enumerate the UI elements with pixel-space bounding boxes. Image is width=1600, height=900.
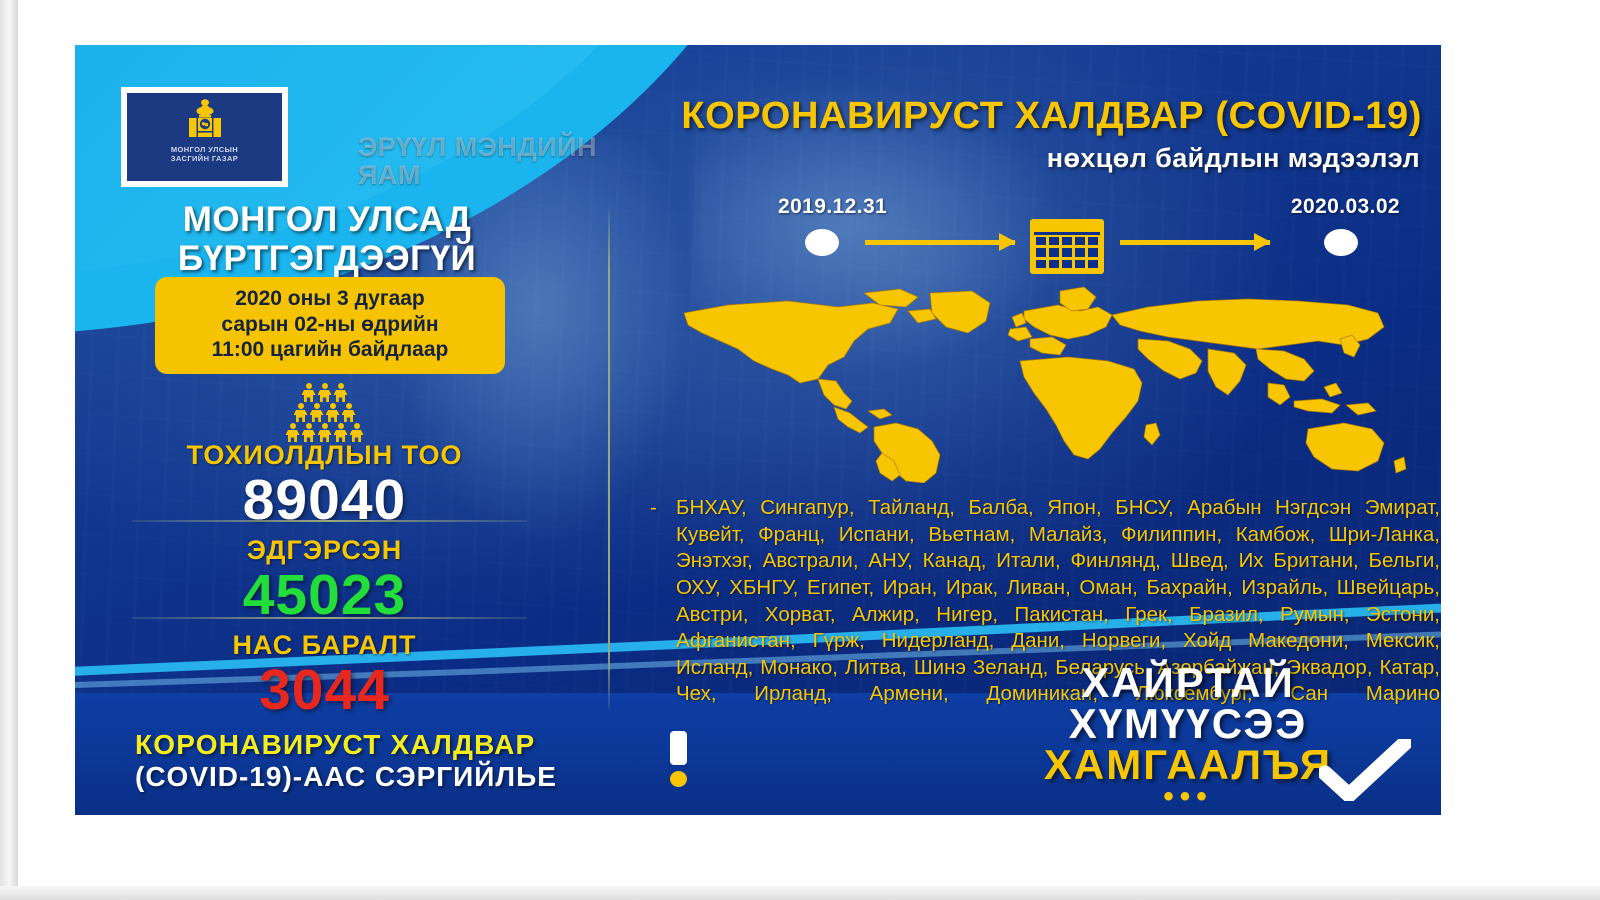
calendar-icon xyxy=(1030,219,1104,274)
stat-confirmed: ТОХИОЛДЛЫН ТОО 89040 xyxy=(97,440,552,531)
date-badge-line3: 11:00 цагийн байдлаар xyxy=(165,337,495,363)
stat-recovered-label: ЭДГЭРСЭН xyxy=(97,535,552,566)
left-summary-column: МОНГОЛ УЛСЫН ЗАСГИЙН ГАЗАР МОНГОЛ УЛСАД … xyxy=(97,55,552,705)
headline-line1: МОНГОЛ УЛСАД xyxy=(107,200,547,239)
headline: МОНГОЛ УЛСАД БҮРТГЭГДЭЭГҮЙ xyxy=(107,200,547,278)
date-badge: 2020 оны 3 дугаар сарын 02-ны өдрийн 11:… xyxy=(155,277,505,374)
stat-deaths: НАС БАРАЛТ 3044 xyxy=(97,630,552,721)
slogan-line1: ХАЙРТАЙ xyxy=(973,662,1403,703)
exclamation-icon xyxy=(670,731,687,787)
page-subtitle: нөхцөл байдлын мэдээлэл xyxy=(1047,143,1420,174)
list-bullet: - xyxy=(650,495,657,522)
logo-text-line1: МОНГОЛ УЛСЫН xyxy=(171,145,238,154)
people-pictogram-icon xyxy=(97,383,552,442)
date-badge-line1: 2020 оны 3 дугаар xyxy=(165,286,495,312)
page-edge-bottom xyxy=(0,886,1600,900)
timeline-end-dot xyxy=(1324,229,1358,256)
government-logo: МОНГОЛ УЛСЫН ЗАСГИЙН ГАЗАР xyxy=(121,87,288,187)
soyombo-emblem-icon xyxy=(177,98,233,142)
page-title: КОРОНАВИРУСТ ХАЛДВАР (COVID-19) xyxy=(681,95,1422,138)
logo-text: МОНГОЛ УЛСЫН ЗАСГИЙН ГАЗАР xyxy=(171,145,238,164)
checkmark-icon xyxy=(1319,739,1411,801)
timeline-end-date: 2020.03.02 xyxy=(1291,195,1400,219)
right-content-column: КОРОНАВИРУСТ ХАЛДВАР (COVID-19) нөхцөл б… xyxy=(630,55,1430,715)
stat-deaths-value: 3044 xyxy=(97,661,552,721)
timeline-start-date: 2019.12.31 xyxy=(778,195,887,219)
prevention-banner-line1: КОРОНАВИРУСТ ХАЛДВАР xyxy=(135,729,535,761)
timeline: 2019.12.31 2020.03.02 xyxy=(700,195,1420,275)
prevention-banner-line2: (COVID-19)-ААС СЭРГИЙЛЬЕ xyxy=(135,761,557,793)
timeline-arrow-2-icon xyxy=(1120,240,1270,245)
headline-line2: БҮРТГЭГДЭЭГҮЙ xyxy=(107,239,547,278)
page-edge-left xyxy=(0,0,18,900)
stat-recovered: ЭДГЭРСЭН 45023 xyxy=(97,535,552,626)
slogan-line2: ХҮМҮҮСЭЭ xyxy=(973,703,1403,744)
covid-status-poster: ЭРҮҮЛ МЭНДИЙН ЯАМ xyxy=(75,45,1441,815)
world-map xyxy=(668,283,1408,483)
stat-confirmed-label: ТОХИОЛДЛЫН ТОО xyxy=(97,440,552,471)
column-divider xyxy=(608,210,610,710)
stat-deaths-label: НАС БАРАЛТ xyxy=(97,630,552,661)
logo-text-line2: ЗАСГИЙН ГАЗАР xyxy=(171,154,238,163)
timeline-start-dot xyxy=(805,229,839,256)
date-badge-line2: сарын 02-ны өдрийн xyxy=(165,312,495,338)
page-canvas: ЭРҮҮЛ МЭНДИЙН ЯАМ xyxy=(0,0,1600,900)
stat-divider-2 xyxy=(132,617,527,619)
timeline-arrow-1-icon xyxy=(865,240,1015,245)
prevention-banner: КОРОНАВИРУСТ ХАЛДВАР (COVID-19)-ААС СЭРГ… xyxy=(135,729,695,793)
protect-slogan: ХАЙРТАЙ ХҮМҮҮСЭЭ ХАМГААЛЪЯ ••• xyxy=(973,662,1403,807)
stat-divider-1 xyxy=(132,520,527,522)
